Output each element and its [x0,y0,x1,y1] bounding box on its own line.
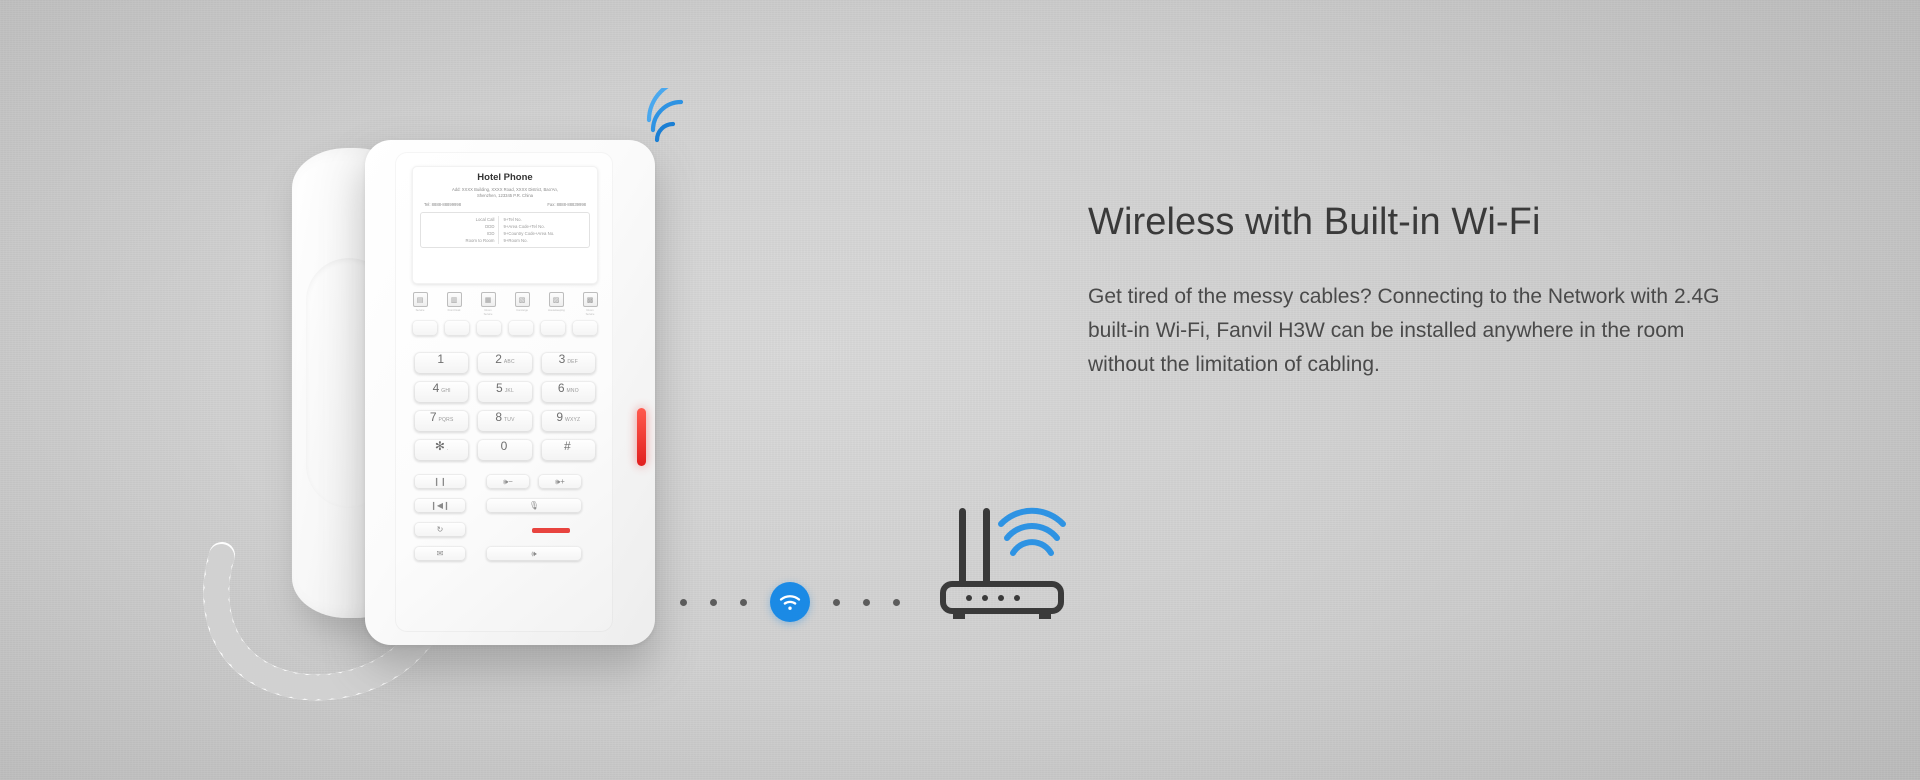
speed-dial-button-6[interactable] [572,320,598,336]
key-6[interactable]: 6 MNO [541,381,596,403]
connection-dot [680,599,687,606]
speed-dial-label: Front Desk [446,308,462,312]
key-1[interactable]: 1 [414,352,469,374]
feature-copy-block: Wireless with Built-in Wi-Fi Get tired o… [1088,202,1728,382]
message-button[interactable]: ✉ [414,546,466,561]
key-letters: TUV [504,417,515,423]
key-digit: 2 [495,352,502,366]
speed-dial-icon-4: ▧ Concierge [514,292,530,316]
status-indicator-bar [532,528,570,533]
key-digit: 9 [556,410,563,424]
speed-dial-icon-6: ▩ Room Service [582,292,598,316]
product-feature-banner: Hotel Phone Add: XXXX Building, XXXX Roa… [0,0,1920,780]
key-letters: GHI [441,388,451,394]
volume-up-button[interactable]: 🕪+ [538,474,582,489]
card-fax: Fax: 8888-88839998 [547,202,586,207]
volume-down-button[interactable]: 🕪− [486,474,530,489]
table-row: Local Call 9+Tel No. [425,216,585,223]
key-2[interactable]: 2 ABC [477,352,532,374]
key-8[interactable]: 8 TUV [477,410,532,432]
speed-dial-icon-2: ▥ Front Desk [446,292,462,316]
function-keys-left: ❙❙ ❙◀❙ ↻ ✉ [414,474,466,561]
speed-dial-icon-1: ▤ Service [412,292,428,316]
key-letters: . [447,446,449,452]
connection-dot [833,599,840,606]
key-5[interactable]: 5 JKL [477,381,532,403]
wifi-badge [770,582,810,622]
service-icon-4: ▧ [515,292,530,307]
speed-dial-label: Concierge [514,308,530,312]
speed-dial-label: Room Service [480,308,496,316]
key-letters: DEF [567,359,578,365]
key-digit: 1 [437,352,444,366]
key-9[interactable]: 9 WXYZ [541,410,596,432]
key-digit: 0 [501,439,508,453]
key-hash[interactable]: # [541,439,596,461]
router-icon [935,498,1085,628]
speed-dial-button-4[interactable] [508,320,534,336]
key-digit: ✻ [435,439,445,453]
speed-dial-button-2[interactable] [444,320,470,336]
key-digit: 4 [433,381,440,395]
speaker-button[interactable]: 🕪 [486,546,582,561]
key-star[interactable]: ✻ . [414,439,469,461]
redial-button[interactable]: ↻ [414,522,466,537]
speed-dial-button-3[interactable] [476,320,502,336]
hotel-info-card: Hotel Phone Add: XXXX Building, XXXX Roa… [412,166,598,284]
connection-dot [863,599,870,606]
speed-dial-icon-strip: ▤ Service ▥ Front Desk ▦ Room Service ▧ … [412,292,598,316]
service-icon-3: ▦ [481,292,496,307]
table-row: IDD 9+Country Code+Area No. [425,230,585,237]
key-3[interactable]: 3 DEF [541,352,596,374]
key-letters: MNO [567,388,579,394]
service-icon-5: ▨ [549,292,564,307]
key-digit: 7 [430,410,437,424]
page-title: Wireless with Built-in Wi-Fi [1088,202,1728,244]
key-letters: WXYZ [565,417,580,423]
key-letters: PQRS [439,417,454,423]
transfer-button[interactable]: ❙◀❙ [414,498,466,513]
dial-label: Local Call [425,216,499,223]
dial-value: 9+Tel No. [499,216,585,223]
card-title: Hotel Phone [420,172,590,183]
key-digit: 3 [559,352,566,366]
table-row: Room to Room 9+Room No. [425,237,585,244]
speed-dial-button-5[interactable] [540,320,566,336]
speed-dial-label: Housekeeping [548,308,564,312]
key-letters: ABC [504,359,515,365]
background-texture [0,0,1920,780]
service-icon-1: ▤ [413,292,428,307]
hold-button[interactable]: ❙❙ [414,474,466,489]
dial-instructions-table: Local Call 9+Tel No. DDD 9+Area Code+Tel… [420,212,590,248]
key-digit: 5 [496,381,503,395]
key-digit: 6 [558,381,565,395]
function-keys-right: 🕪− 🕪+ 🎙 🕪 [486,474,582,561]
card-tel: Tel: 8888-88899998 [424,202,461,207]
speed-dial-label: Service [412,308,428,312]
key-digit: # [564,439,571,453]
speed-dial-label: Room Service [582,308,598,316]
message-waiting-led [637,408,646,466]
dial-label: IDD [425,230,499,237]
speed-dial-icon-5: ▨ Housekeeping [548,292,564,316]
service-icon-2: ▥ [447,292,462,307]
connection-dot [893,599,900,606]
service-icon-6: ▩ [583,292,598,307]
mute-button[interactable]: 🎙 [486,498,582,513]
key-4[interactable]: 4 GHI [414,381,469,403]
speed-dial-button-row [412,320,598,336]
feature-description: Get tired of the messy cables? Connectin… [1088,280,1728,382]
dial-keypad: 1 2 ABC 3 DEF 4 GHI 5 JKL 6 MNO [414,352,596,461]
connection-dot [740,599,747,606]
key-7[interactable]: 7 PQRS [414,410,469,432]
speed-dial-icon-3: ▦ Room Service [480,292,496,316]
connection-dot [710,599,717,606]
card-address-line2: Shenzhen, 123345 P.R. China [420,193,590,199]
background-vignette [0,0,1920,780]
key-digit: 8 [495,410,502,424]
dial-label: DDD [425,223,499,230]
key-0[interactable]: 0 [477,439,532,461]
dial-value: 9+Country Code+Area No. [499,230,585,237]
key-letters: JKL [505,388,514,394]
dial-value: 9+Area Code+Tel No. [499,223,585,230]
dial-value: 9+Room No. [499,237,585,244]
speed-dial-button-1[interactable] [412,320,438,336]
phone-wifi-signal-icon [645,88,715,148]
table-row: DDD 9+Area Code+Tel No. [425,223,585,230]
wifi-icon [778,592,802,612]
hotel-phone-product-image: Hotel Phone Add: XXXX Building, XXXX Roa… [300,130,660,650]
dial-label: Room to Room [425,237,499,244]
